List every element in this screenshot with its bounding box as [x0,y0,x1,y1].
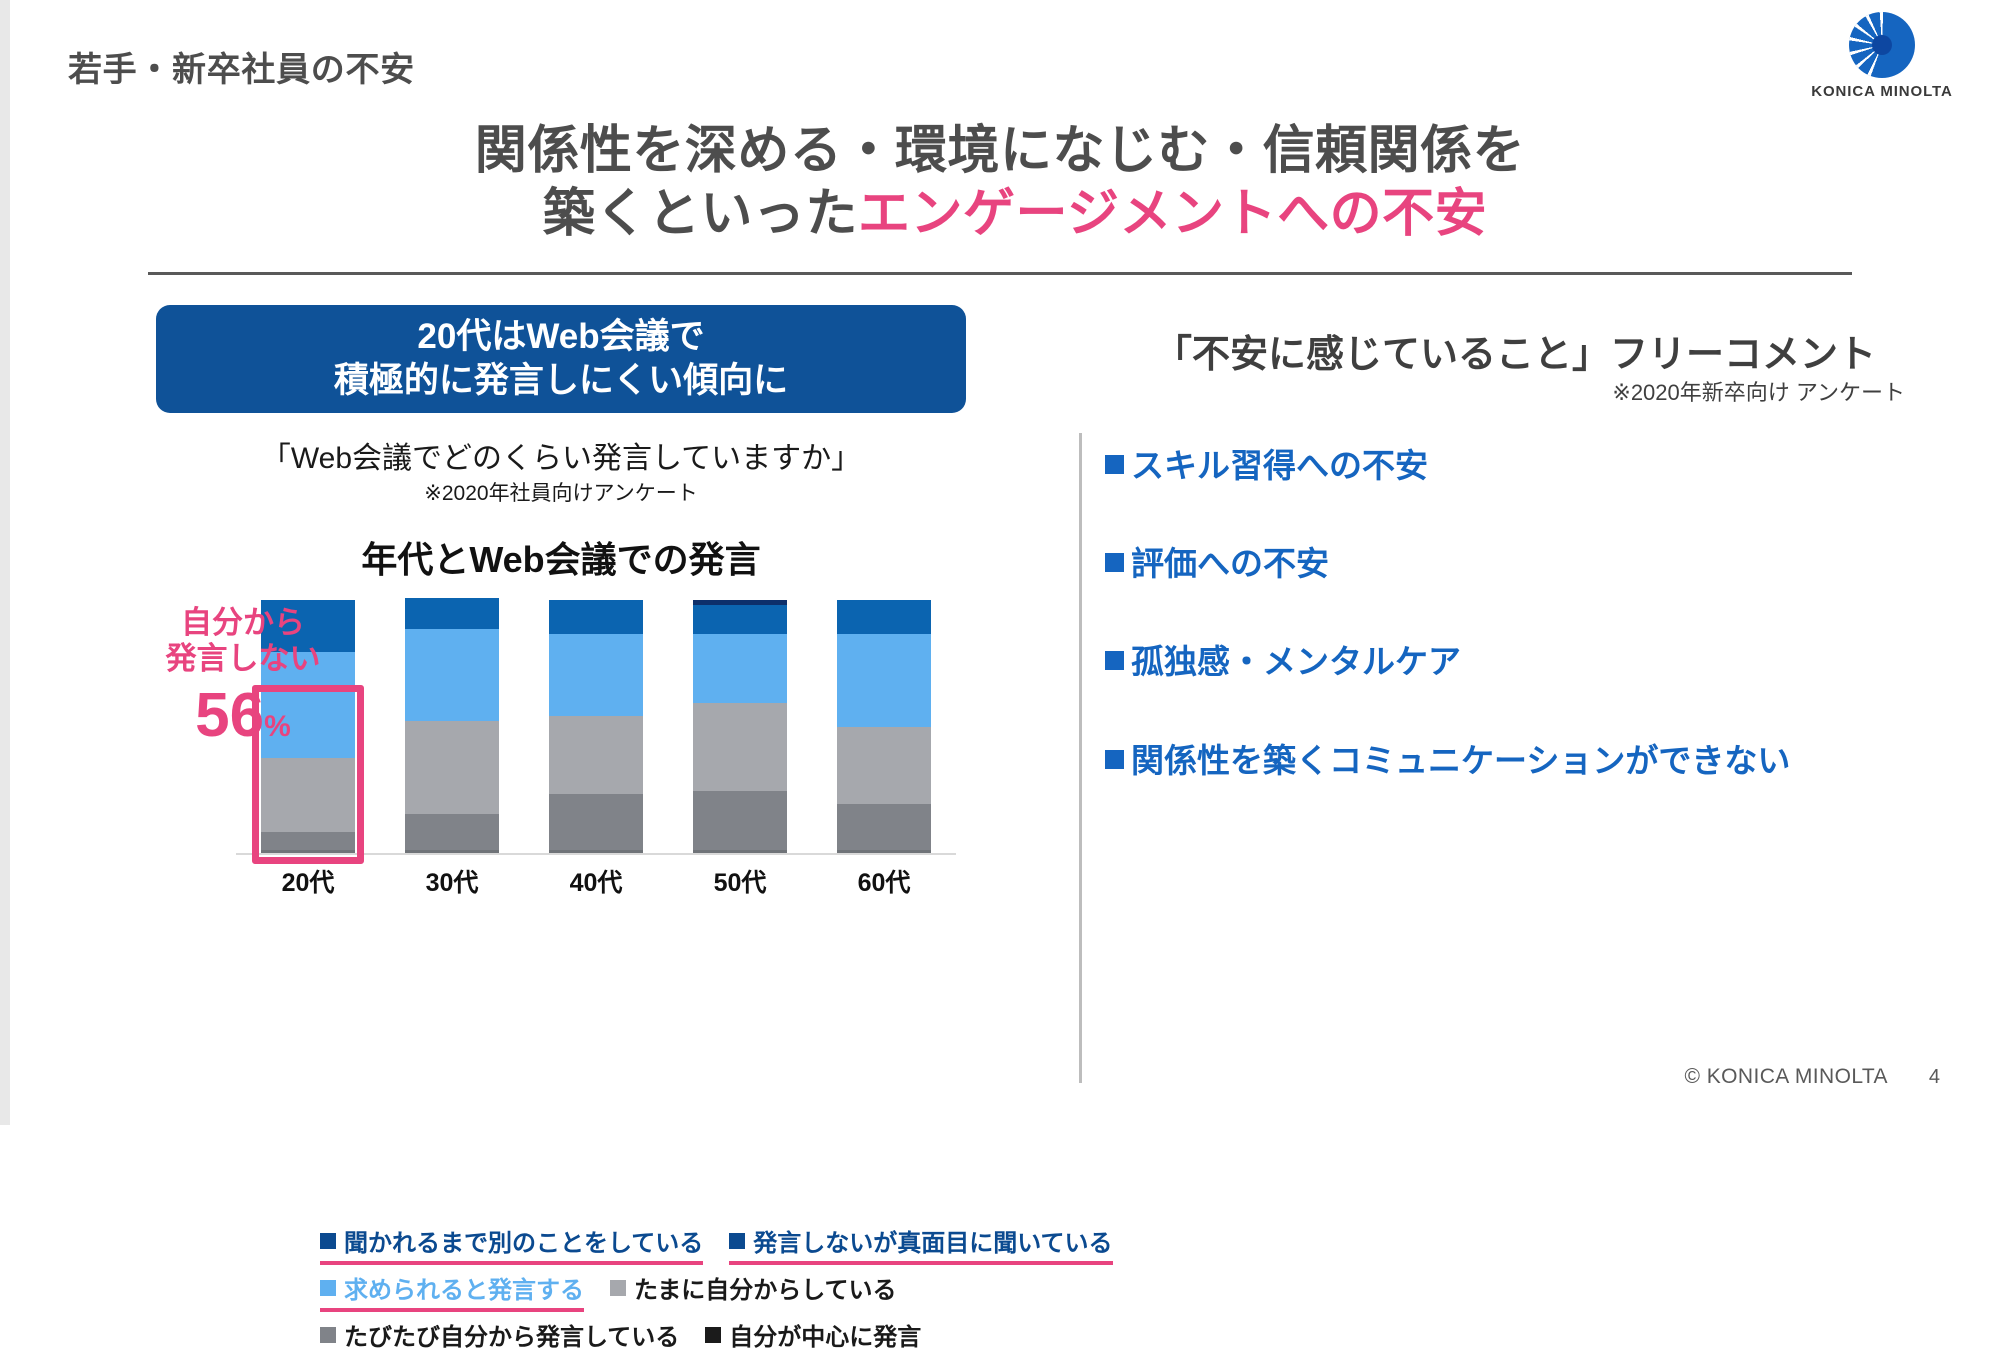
free-comment-item: スキル習得への不安 [1105,445,1925,487]
chart-bar-segment [693,703,787,791]
legend-swatch-icon [705,1327,721,1343]
chart-bar-segment [549,634,643,717]
chart-bar-segment [549,716,643,793]
free-comment-note: ※2020年新卒向け アンケート [1085,375,1945,407]
page-title-line2: 築くといったエンゲージメントへの不安 [0,183,2000,246]
legend-item[interactable]: 自分が中心に発言 [705,1317,921,1352]
highlight-value-unit: % [264,710,291,743]
chart-bar-segment [549,850,643,853]
bullet-square-icon [1105,455,1124,474]
vertical-divider [1079,433,1082,1083]
legend-item[interactable]: たまに自分からしている [610,1270,897,1305]
free-comment-item-label: 孤独感・メンタルケア [1131,641,1461,683]
chart-bar-segment [405,721,499,814]
legend-swatch-icon [320,1233,336,1249]
legend-label: 求められると発言する [344,1270,584,1305]
chart-plot-area [236,595,956,855]
legend-swatch-icon [610,1280,626,1296]
insight-callout-box: 20代はWeb会議で 積極的に発言しにくい傾向に [156,305,966,413]
chart-category-labels: 20代30代40代50代60代 [236,863,956,903]
bullet-square-icon [1105,651,1124,670]
page-title: 関係性を深める・環境になじむ・信頼関係を 築くといったエンゲージメントへの不安 [0,120,2000,247]
slide: 若手・新卒社員の不安 KONICA MINOLTA 関係性を深める・環境になじむ… [0,0,2000,1125]
chart-bar-segment [693,850,787,853]
chart-title: 年代とWeb会議での発言 [150,531,972,583]
chart-bar-segment [405,814,499,850]
legend-item[interactable]: たびたび自分から発言している [320,1317,679,1352]
legend-label: 聞かれるまで別のことをしている [344,1223,703,1258]
free-comment-item-label: スキル習得への不安 [1131,445,1428,487]
free-comment-item: 孤独感・メンタルケア [1105,641,1925,683]
legend-item[interactable]: 聞かれるまで別のことをしている [320,1223,703,1258]
page-eyebrow: 若手・新卒社員の不安 [68,42,415,91]
chart-category-label: 50代 [680,863,800,899]
chart-bar-segment [549,600,643,634]
chart-category-label: 60代 [824,863,944,899]
legend-item[interactable]: 発言しないが真面目に聞いている [729,1223,1112,1258]
page-title-line2-accent: エンゲージメントへの不安 [858,185,1487,243]
legend-label: たびたび自分から発言している [344,1317,679,1352]
chart-legend: 聞かれるまで別のことをしている 発言しないが真面目に聞いている 求められると発言… [320,1223,1170,1364]
legend-swatch-icon [320,1327,336,1343]
chart-bar [837,600,931,853]
legend-item[interactable]: 求められると発言する [320,1270,584,1305]
page-number: 4 [1929,1066,1940,1089]
copyright-text: © KONICA MINOLTA [1685,1065,1888,1089]
highlight-annotation-line2: 発言しない [148,641,338,677]
chart-bar [405,598,499,853]
free-comment-item: 関係性を築くコミュニケーションができない [1105,740,1925,782]
highlight-annotation: 自分から 発言しない 56% [148,605,338,752]
legend-row: 聞かれるまで別のことをしている 発言しないが真面目に聞いている [320,1223,1170,1258]
legend-label: 自分が中心に発言 [729,1317,921,1352]
chart-category-label: 40代 [536,863,656,899]
survey-question: 「Web会議でどのくらい発言していますか」 [150,433,972,477]
free-comment-item-label: 関係性を築くコミュニケーションができない [1131,740,1790,782]
insight-callout-line1: 20代はWeb会議で [417,315,704,359]
chart-bar-segment [405,850,499,853]
chart-bar-segment [693,634,787,704]
free-comment-list: スキル習得への不安評価への不安孤独感・メンタルケア関係性を築くコミュニケーション… [1105,445,1925,838]
chart-category-label: 20代 [248,863,368,899]
legend-swatch-icon [729,1233,745,1249]
chart-bar-segment [405,629,499,722]
stacked-bar-chart: 20代30代40代50代60代 自分から 発言しない 56% [236,595,956,895]
legend-row: たびたび自分から発言している 自分が中心に発言 [320,1317,1170,1352]
title-divider [148,272,1852,275]
legend-swatch-icon [320,1280,336,1296]
chart-bar [549,600,643,853]
logo-wordmark: KONICA MINOLTA [1811,83,1952,100]
page-title-line1: 関係性を深める・環境になじむ・信頼関係を [0,120,2000,183]
free-comment-item-label: 評価への不安 [1131,543,1329,585]
highlight-annotation-line1: 自分から [148,605,338,641]
bullet-square-icon [1105,553,1124,572]
globe-icon [1849,12,1915,78]
konica-minolta-logo: KONICA MINOLTA [1802,12,1962,104]
chart-bar-segment [837,727,931,804]
highlight-annotation-value: 56% [148,680,338,751]
chart-category-label: 30代 [392,863,512,899]
bullet-square-icon [1105,750,1124,769]
survey-question-note: ※2020年社員向けアンケート [150,477,972,507]
chart-bar-segment [693,791,787,850]
legend-label: たまに自分からしている [634,1270,897,1305]
chart-bar-segment [837,804,931,850]
free-comment-item: 評価への不安 [1105,543,1925,585]
chart-bar-segment [837,634,931,727]
legend-label: 発言しないが真面目に聞いている [753,1223,1112,1258]
chart-bar-segment [837,600,931,634]
chart-bar [693,600,787,853]
chart-bar-segment [693,605,787,633]
page-title-line2-plain: 築くといった [543,185,858,243]
highlight-value-number: 56 [195,681,264,750]
free-comment-title: 「不安に感じていること」フリーコメント [1085,323,1945,378]
insight-callout-line2: 積極的に発言しにくい傾向に [334,359,788,403]
legend-row: 求められると発言する たまに自分からしている [320,1270,1170,1305]
chart-bar-segment [549,794,643,851]
chart-bar-segment [405,598,499,629]
chart-bar-segment [837,850,931,853]
